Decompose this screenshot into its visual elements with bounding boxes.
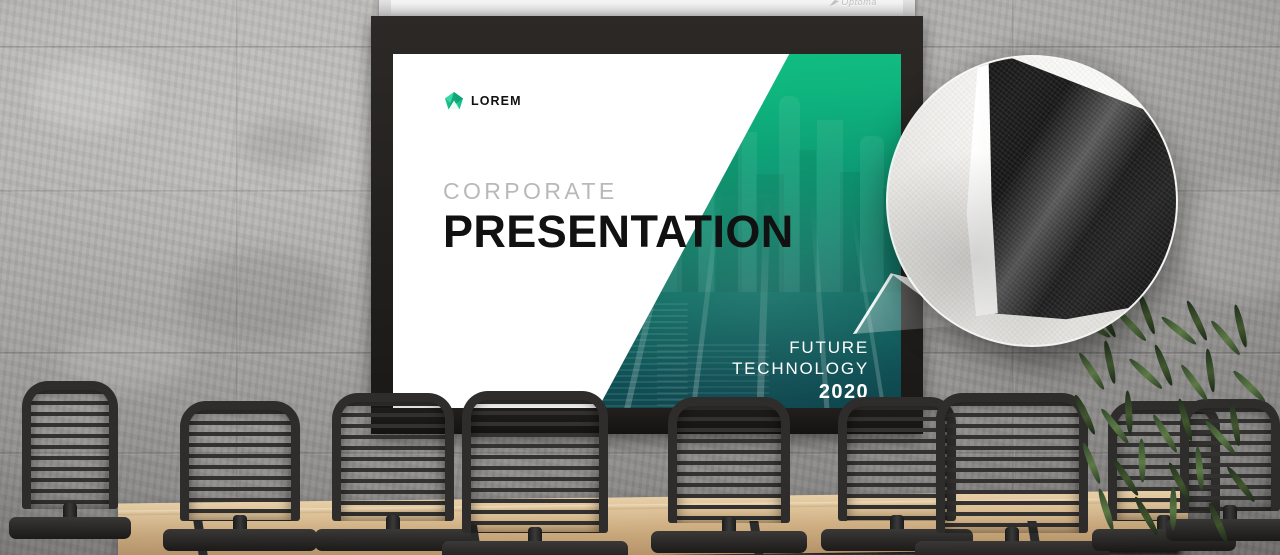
presentation-slide[interactable]: LOREM CORPORATE PRESENTATION FUTURE TECH… xyxy=(393,54,901,426)
screen-frame: LOREM CORPORATE PRESENTATION FUTURE TECH… xyxy=(371,16,923,434)
caption-line-1: FUTURE xyxy=(732,338,869,359)
slide-logo-text: LOREM xyxy=(471,94,522,108)
screen-material-closeup-callout[interactable] xyxy=(888,57,1176,345)
slide-kicker: CORPORATE xyxy=(443,180,794,203)
slide-title: PRESENTATION xyxy=(443,208,794,257)
room-scene: Optoma xyxy=(0,0,1280,555)
optoma-brand-mark: Optoma xyxy=(841,0,877,7)
caption-line-2: TECHNOLOGY xyxy=(732,359,869,380)
star-pentagon-logo-icon xyxy=(444,91,464,111)
chair[interactable] xyxy=(462,391,608,533)
chair[interactable] xyxy=(180,401,300,521)
slide-headline: CORPORATE PRESENTATION xyxy=(443,180,794,257)
slide-logo[interactable]: LOREM xyxy=(444,91,522,111)
chair[interactable] xyxy=(332,393,454,521)
chair[interactable] xyxy=(936,393,1088,533)
projection-screen[interactable]: Optoma xyxy=(371,0,923,435)
chair[interactable] xyxy=(668,397,790,523)
chair[interactable] xyxy=(22,381,118,509)
